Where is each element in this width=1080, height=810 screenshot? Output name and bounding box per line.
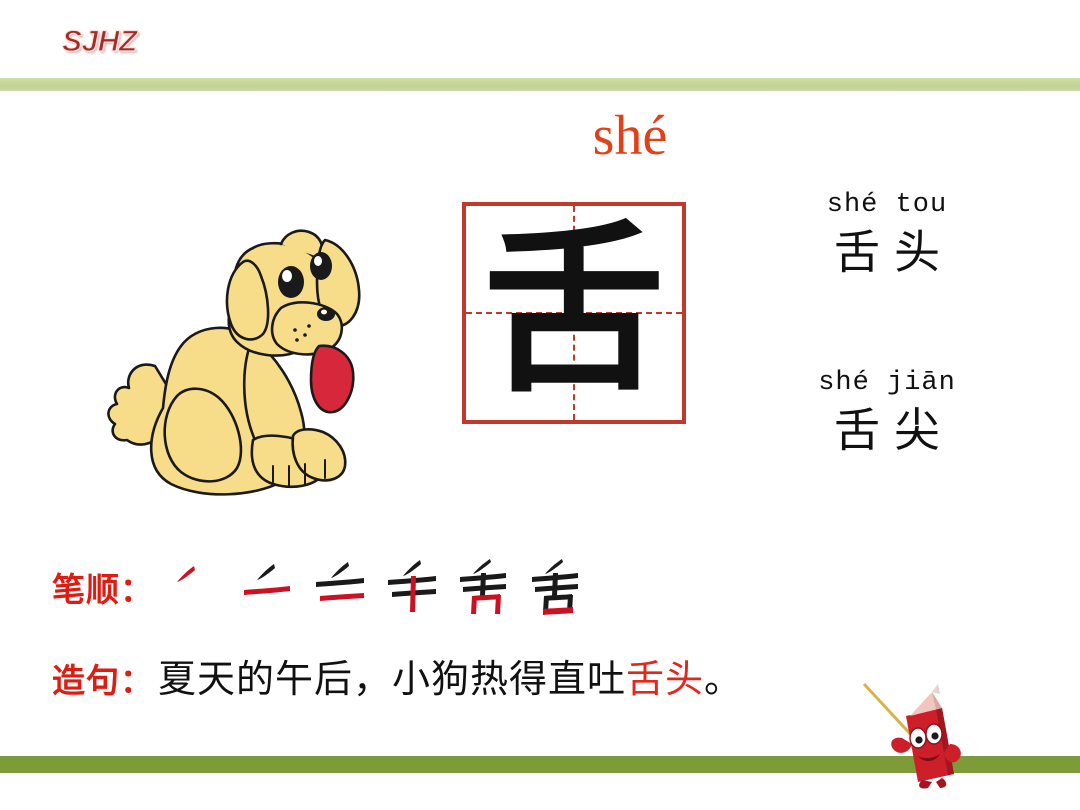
slide-logo: SJHZ [62, 25, 137, 59]
vocabulary-item-1: shé tou 舌头 [742, 190, 1032, 279]
stroke-step-2 [234, 556, 306, 618]
slide-root: SJHZ shé [0, 0, 1080, 810]
example-sentence-text: 夏天的午后，小狗热得直吐舌头。 [158, 648, 743, 703]
pencil-mascot [862, 682, 982, 790]
sentence-highlight-word: 舌头 [626, 657, 704, 701]
stroke-order-row: 笔顺： [52, 556, 594, 618]
sentence-part-after: 。 [704, 657, 743, 701]
sentence-part-before: 夏天的午后，小狗热得直吐 [158, 657, 626, 701]
target-character: 舌 [466, 206, 682, 420]
vocabulary-pinyin: shé jiān [742, 368, 1032, 398]
vocabulary-hanzi: 舌尖 [742, 404, 1032, 457]
vocabulary-hanzi: 舌头 [742, 226, 1032, 279]
stroke-step-1 [162, 556, 234, 618]
stroke-order-label: 笔顺： [52, 563, 154, 611]
vocabulary-item-2: shé jiān 舌尖 [742, 368, 1032, 457]
character-grid-box: 舌 [462, 202, 686, 424]
top-divider-bar [0, 78, 1080, 91]
vocabulary-pinyin: shé tou [742, 190, 1032, 220]
stroke-step-5 [450, 556, 522, 618]
stroke-step-6 [522, 556, 594, 618]
dog-illustration [85, 178, 415, 518]
example-sentence-row: 造句： 夏天的午后，小狗热得直吐舌头。 [52, 648, 743, 703]
example-sentence-label: 造句： [52, 654, 154, 702]
stroke-step-4 [378, 556, 450, 618]
stroke-order-steps [162, 556, 594, 618]
headline-pinyin: shé [520, 108, 740, 164]
stroke-step-3 [306, 556, 378, 618]
